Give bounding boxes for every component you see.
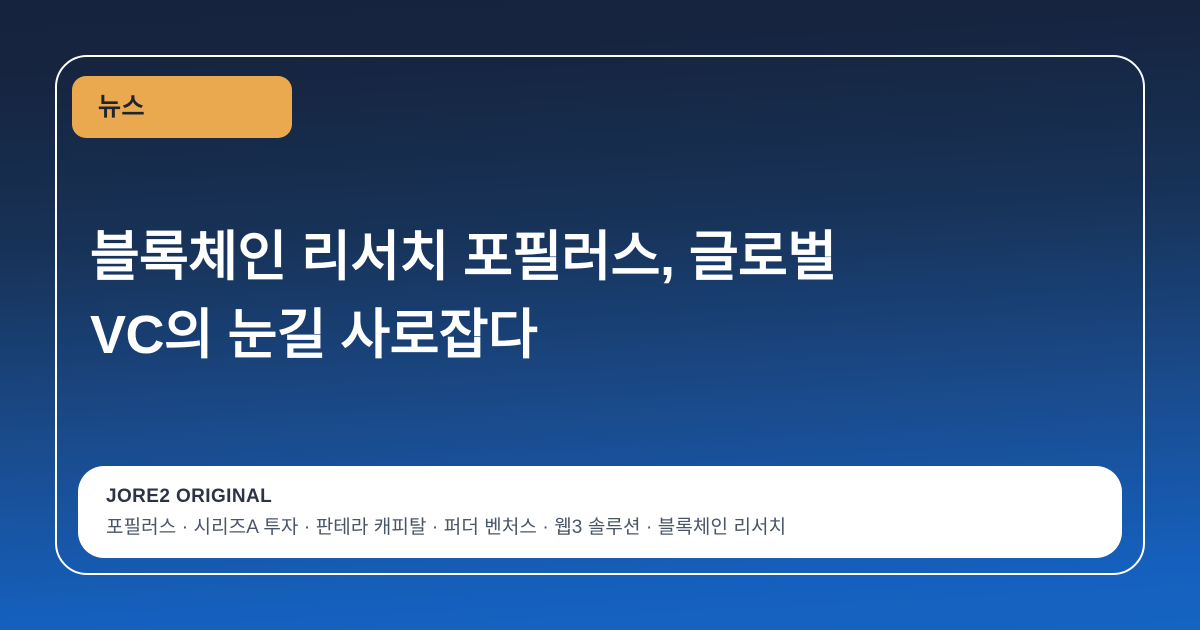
category-badge-label: 뉴스 — [98, 95, 145, 120]
category-badge[interactable]: 뉴스 — [72, 76, 292, 138]
source-label: JORE2 ORIGINAL — [106, 484, 1094, 510]
og-image-canvas: 뉴스 블록체인 리서치 포필러스, 글로벌 VC의 눈길 사로잡다 JORE2 … — [0, 0, 1200, 630]
tag-list: 포필러스 · 시리즈A 투자 · 판테라 캐피탈 · 퍼더 벤처스 · 웹3 솔… — [106, 515, 1094, 541]
footer-info-card: JORE2 ORIGINAL 포필러스 · 시리즈A 투자 · 판테라 캐피탈 … — [78, 466, 1122, 558]
page-title: 블록체인 리서치 포필러스, 글로벌 VC의 눈길 사로잡다 — [90, 218, 1050, 374]
